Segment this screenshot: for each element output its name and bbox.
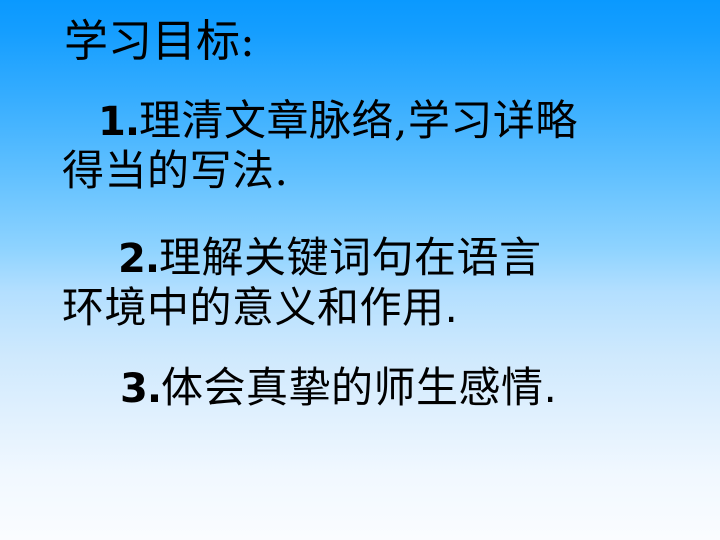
objective-1-number: 1. [98, 99, 139, 145]
objective-3-text-line-1: 体会真挚的师生感情. [161, 363, 557, 412]
objective-1-text-line-1: 理清文章脉络,学习详略 [139, 96, 578, 145]
objective-2-text-line-1: 理解关键词句在语言 [159, 233, 542, 282]
objective-1-line-2: 得当的写法. [62, 146, 288, 196]
presentation-slide: 学习目标: 1.理清文章脉络,学习详略 得当的写法. 2.理解关键词句在语言 环… [0, 0, 720, 540]
objective-3-number: 3. [120, 366, 161, 412]
objective-2-line-1: 2.理解关键词句在语言 [118, 233, 542, 284]
objective-1-text-line-2: 得当的写法. [62, 146, 288, 195]
objective-3-line-1: 3.体会真挚的师生感情. [120, 363, 557, 414]
objective-2-number: 2. [118, 236, 159, 282]
objective-2-line-2: 环境中的意义和作用. [62, 283, 458, 333]
slide-title: 学习目标: [64, 14, 255, 70]
objective-1-line-1: 1.理清文章脉络,学习详略 [98, 96, 578, 147]
objective-2-text-line-2: 环境中的意义和作用. [62, 283, 458, 332]
